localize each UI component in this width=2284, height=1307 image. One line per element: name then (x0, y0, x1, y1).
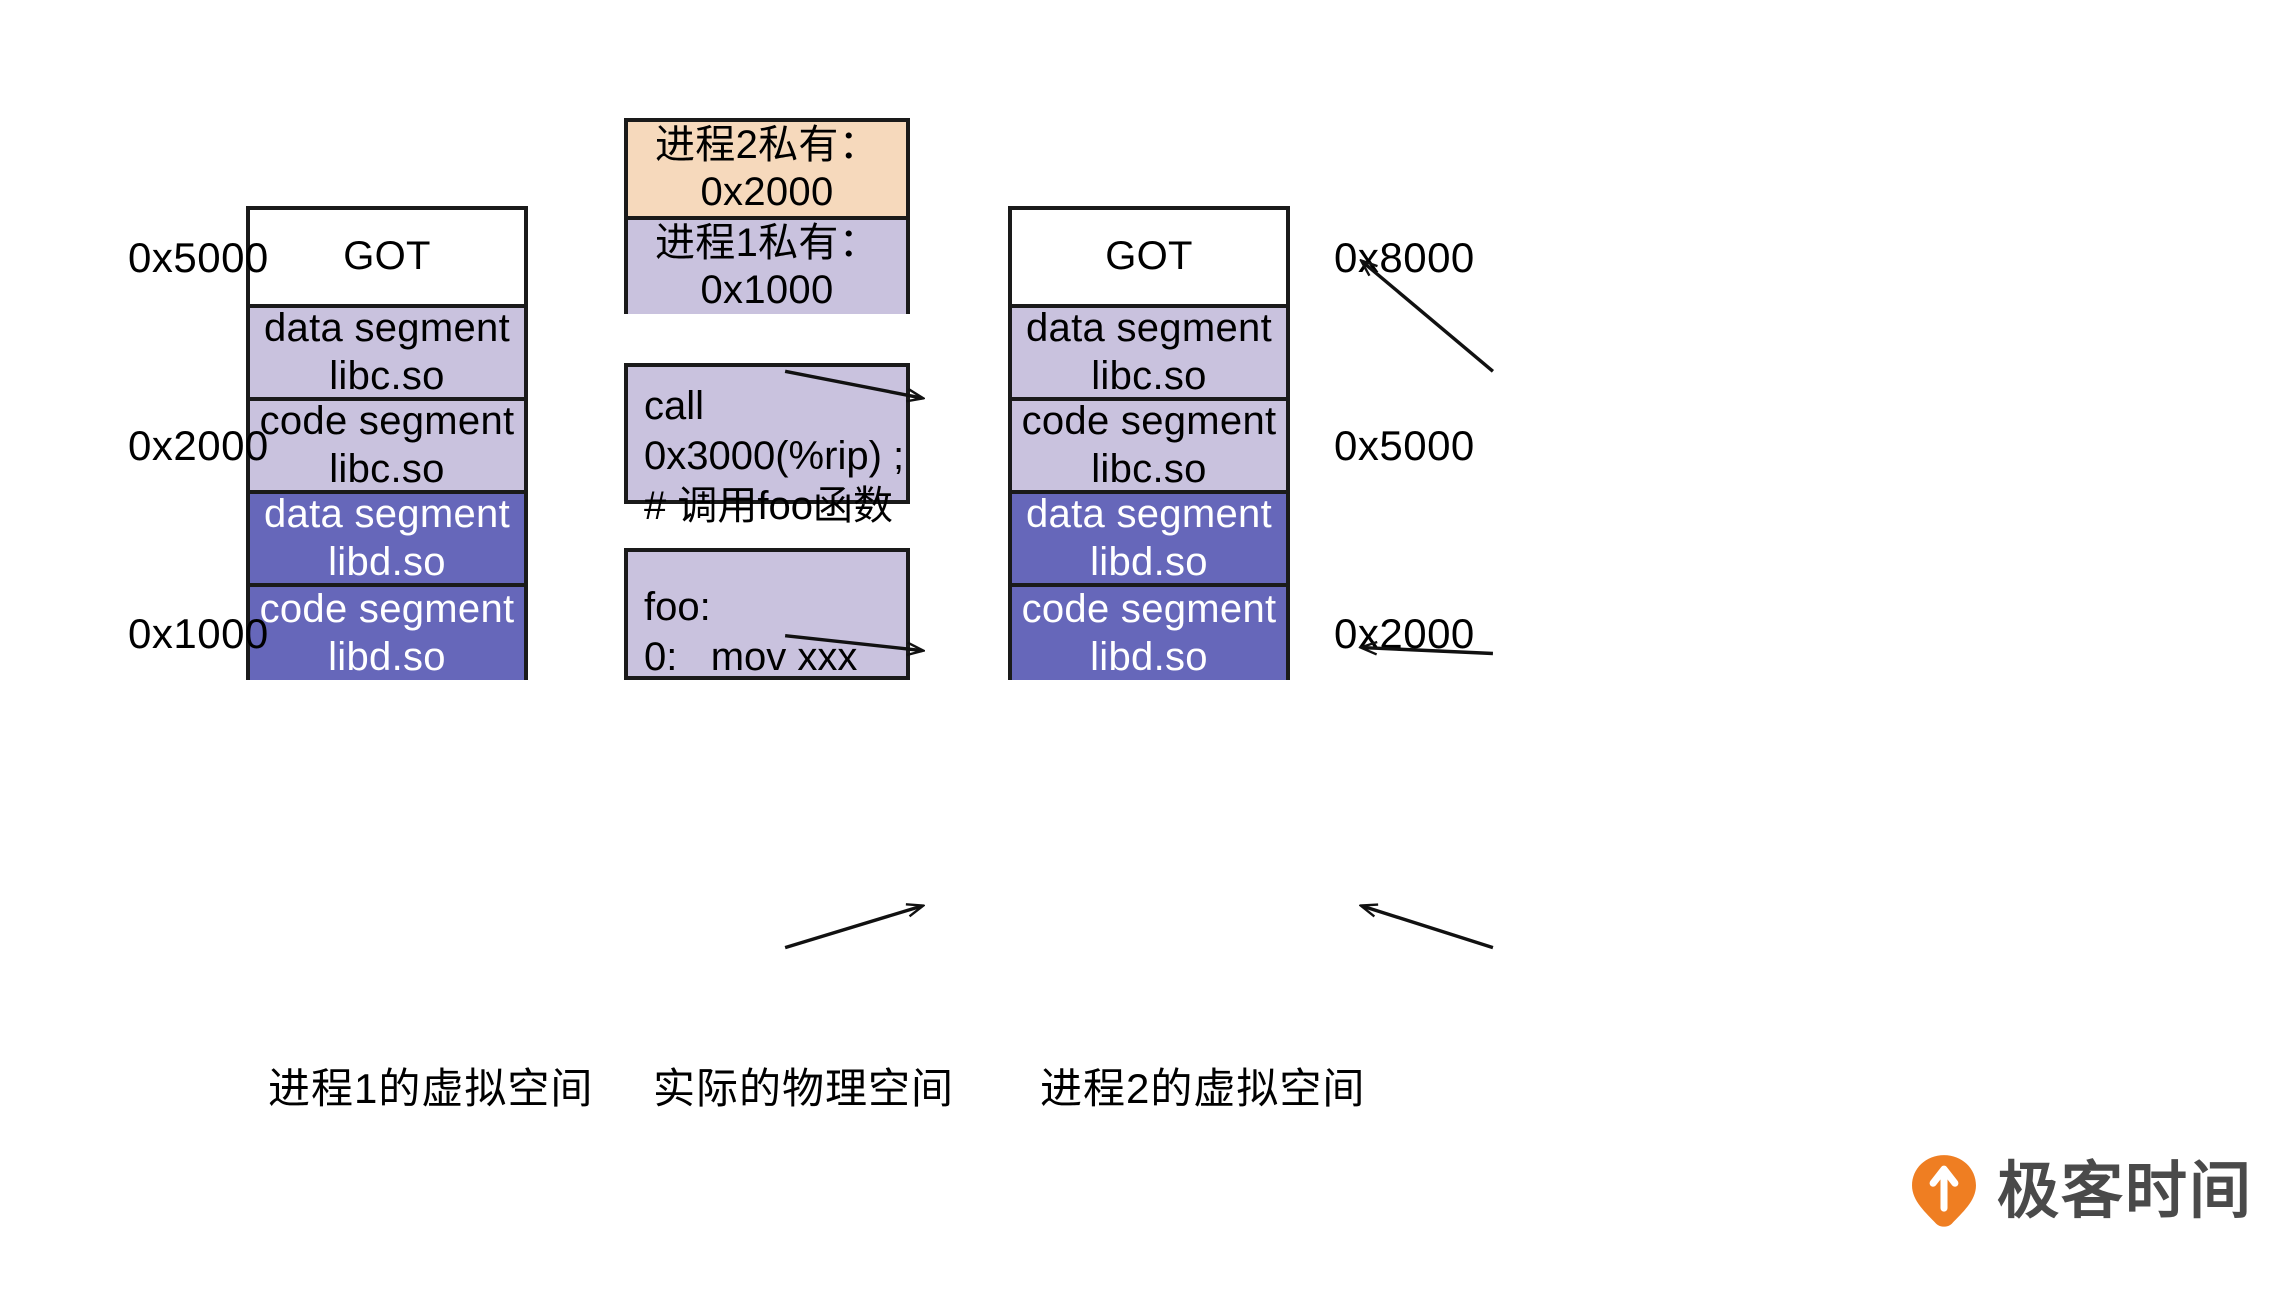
process2-address-0x5000: 0x5000 (1334, 425, 1475, 467)
call-line-1: call (644, 381, 906, 431)
caption-physical: 实际的物理空间 (653, 1068, 954, 1110)
process2-block-code-libc: code segment libc.so (1012, 401, 1286, 494)
diagram-canvas: GOT data segment libc.so code segment li… (0, 0, 2284, 1307)
process2-block-data-libd: data segment libd.so (1012, 494, 1286, 587)
arrow-p2-codelibd-to-foo-page (1362, 906, 1493, 948)
physical-page-process1-private: 进程1私有： 0x1000 (628, 220, 906, 314)
process1-address-0x2000: 0x2000 (128, 425, 269, 467)
process1-block-data-libd: data segment libd.so (250, 494, 524, 587)
process2-block-got: GOT (1012, 210, 1286, 308)
call-line-2: 0x3000(%rip) ; (644, 431, 906, 481)
process1-address-0x1000: 0x1000 (128, 613, 269, 655)
process2-address-0x8000: 0x8000 (1334, 237, 1475, 279)
foo-line-1: foo: (644, 582, 906, 632)
brand-wordmark: 极客时间 (1997, 1160, 2253, 1222)
foo-line-2: 0: mov xxx (644, 632, 906, 682)
physical-got-pages-block: 进程2私有： 0x2000 进程1私有： 0x1000 (624, 118, 910, 314)
process1-memory-column: GOT data segment libc.so code segment li… (246, 206, 528, 680)
geektime-pin-icon (1905, 1152, 1983, 1230)
process1-address-0x5000: 0x5000 (128, 237, 269, 279)
process2-memory-column: GOT data segment libc.so code segment li… (1008, 206, 1290, 680)
physical-call-instruction-block: call 0x3000(%rip) ; # 调用foo函数 (624, 363, 910, 504)
process1-block-data-libc: data segment libc.so (250, 308, 524, 401)
call-line-3: # 调用foo函数 (644, 481, 906, 531)
physical-page-process2-private: 进程2私有： 0x2000 (628, 122, 906, 220)
process2-block-data-libc: data segment libc.so (1012, 308, 1286, 401)
process1-block-code-libd: code segment libd.so (250, 587, 524, 680)
physical-foo-function-block: foo: 0: mov xxx (624, 548, 910, 680)
arrow-p1-codelibd-to-foo-page (785, 906, 922, 948)
process1-block-got: GOT (250, 210, 524, 308)
caption-process2: 进程2的虚拟空间 (1040, 1068, 1365, 1110)
process2-block-code-libd: code segment libd.so (1012, 587, 1286, 680)
caption-process1: 进程1的虚拟空间 (268, 1068, 593, 1110)
process2-address-0x2000: 0x2000 (1334, 613, 1475, 655)
process1-block-code-libc: code segment libc.so (250, 401, 524, 494)
brand-logo: 极客时间 (1905, 1152, 2253, 1230)
